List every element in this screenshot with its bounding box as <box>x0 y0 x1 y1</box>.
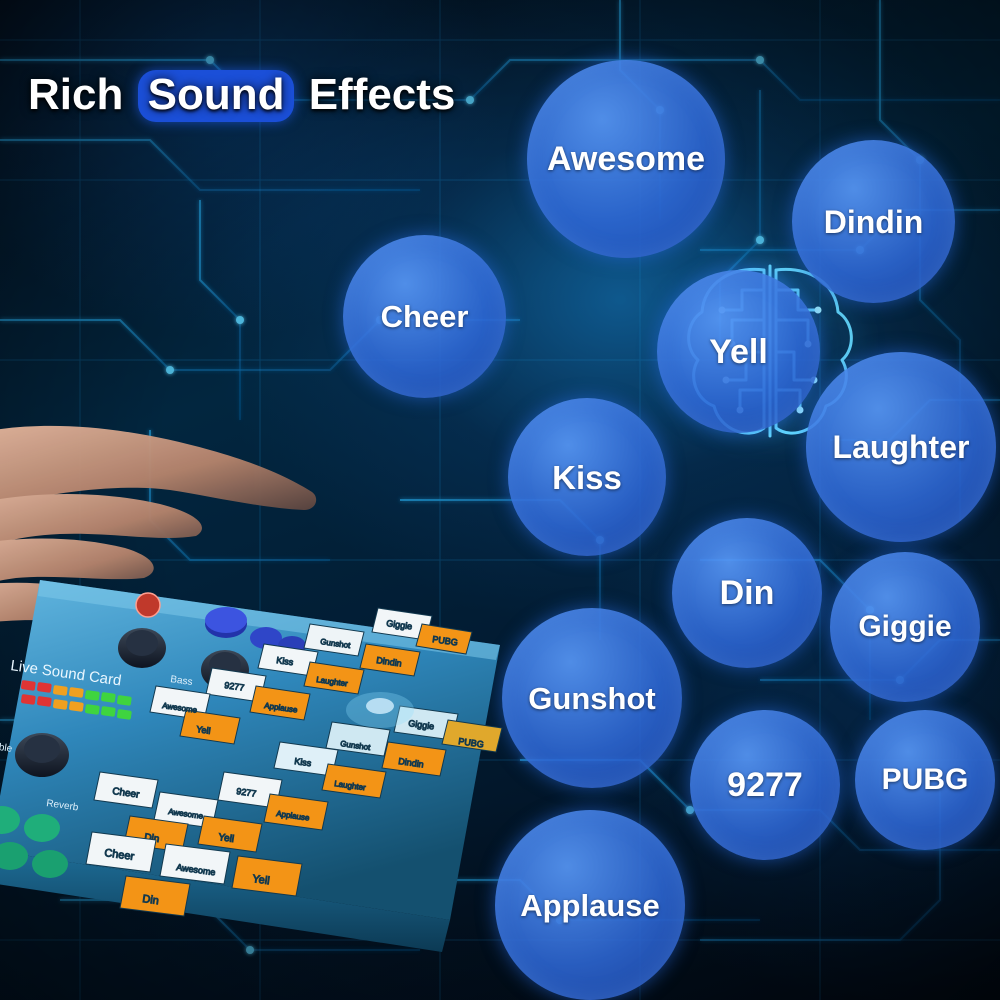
sound-bubble-label: Yell <box>709 335 768 369</box>
title-part-2: Effects <box>309 70 456 119</box>
promo-image: Live Sound Card Bass Treble Reverb <box>0 0 1000 1000</box>
sound-bubble-label: Kiss <box>552 461 622 494</box>
sound-bubble-label: Laughter <box>833 431 970 463</box>
svg-text:Yell: Yell <box>252 873 271 887</box>
svg-text:Din: Din <box>142 893 160 907</box>
sound-bubble-cheer[interactable]: Cheer <box>343 235 506 398</box>
svg-text:Yell: Yell <box>218 832 235 845</box>
sound-bubble-label: Dindin <box>824 206 924 238</box>
sound-bubble-dindin[interactable]: Dindin <box>792 140 955 303</box>
sound-bubble-9277[interactable]: 9277 <box>690 710 840 860</box>
page-title: Rich Sound Effects <box>28 70 455 122</box>
sound-bubble-label: Awesome <box>547 142 705 176</box>
title-part-1: Rich <box>28 70 123 119</box>
sound-bubble-label: Cheer <box>381 301 469 332</box>
svg-text:Yell: Yell <box>196 724 211 736</box>
sound-bubble-label: 9277 <box>727 768 803 802</box>
sound-bubble-giggie[interactable]: Giggie <box>830 552 980 702</box>
title-highlight: Sound <box>138 70 295 122</box>
sound-bubble-pubg[interactable]: PUBG <box>855 710 995 850</box>
glow-slider <box>346 692 414 728</box>
sound-bubble-yell[interactable]: Yell <box>657 270 820 433</box>
sound-bubble-laughter[interactable]: Laughter <box>806 352 996 542</box>
sound-bubble-din[interactable]: Din <box>672 518 822 668</box>
sound-bubble-label: PUBG <box>882 765 969 795</box>
live-sound-card-device[interactable]: Live Sound Card Bass Treble Reverb <box>0 520 580 1000</box>
sound-bubble-awesome[interactable]: Awesome <box>527 60 725 258</box>
sound-bubble-label: Giggie <box>858 612 951 642</box>
sound-bubble-label: Din <box>720 576 775 610</box>
